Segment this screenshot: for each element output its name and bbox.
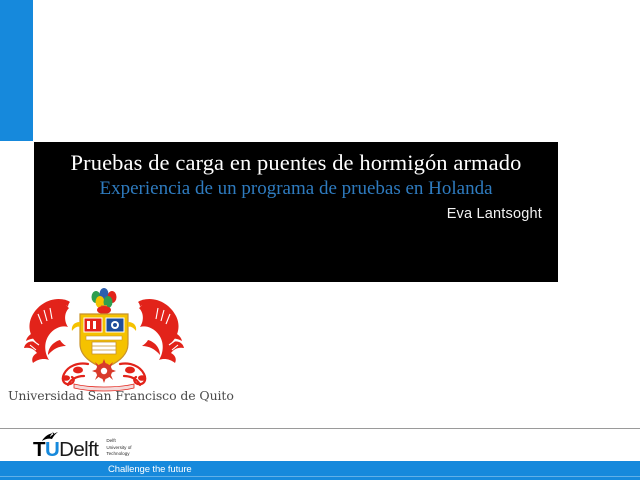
footer-divider bbox=[0, 428, 640, 429]
left-accent-bar bbox=[0, 0, 33, 141]
usfq-logo: Universidad San Francisco de Quito bbox=[8, 288, 200, 416]
tu-delft-flame-icon bbox=[41, 431, 59, 443]
slide-subtitle: Experiencia de un programa de pruebas en… bbox=[46, 178, 546, 200]
footer-bar bbox=[0, 461, 640, 480]
slide-title: Pruebas de carga en puentes de hormigón … bbox=[46, 150, 546, 175]
usfq-coat-of-arms-icon bbox=[8, 288, 200, 392]
title-panel: Pruebas de carga en puentes de hormigón … bbox=[34, 142, 558, 282]
tu-delft-institution-name: Delft University of Technology bbox=[106, 438, 131, 458]
footer-tagline: Challenge the future bbox=[108, 464, 192, 475]
usfq-university-name: Universidad San Francisco de Quito bbox=[8, 388, 200, 403]
footer-bar-highlight bbox=[0, 476, 640, 477]
tu-delft-logo: TUDelft Delft University of Technology bbox=[33, 432, 132, 460]
tud-word-delft: Delft bbox=[59, 438, 98, 461]
author-name: Eva Lantsoght bbox=[46, 206, 542, 222]
presentation-slide: Pruebas de carga en puentes de hormigón … bbox=[0, 0, 640, 480]
